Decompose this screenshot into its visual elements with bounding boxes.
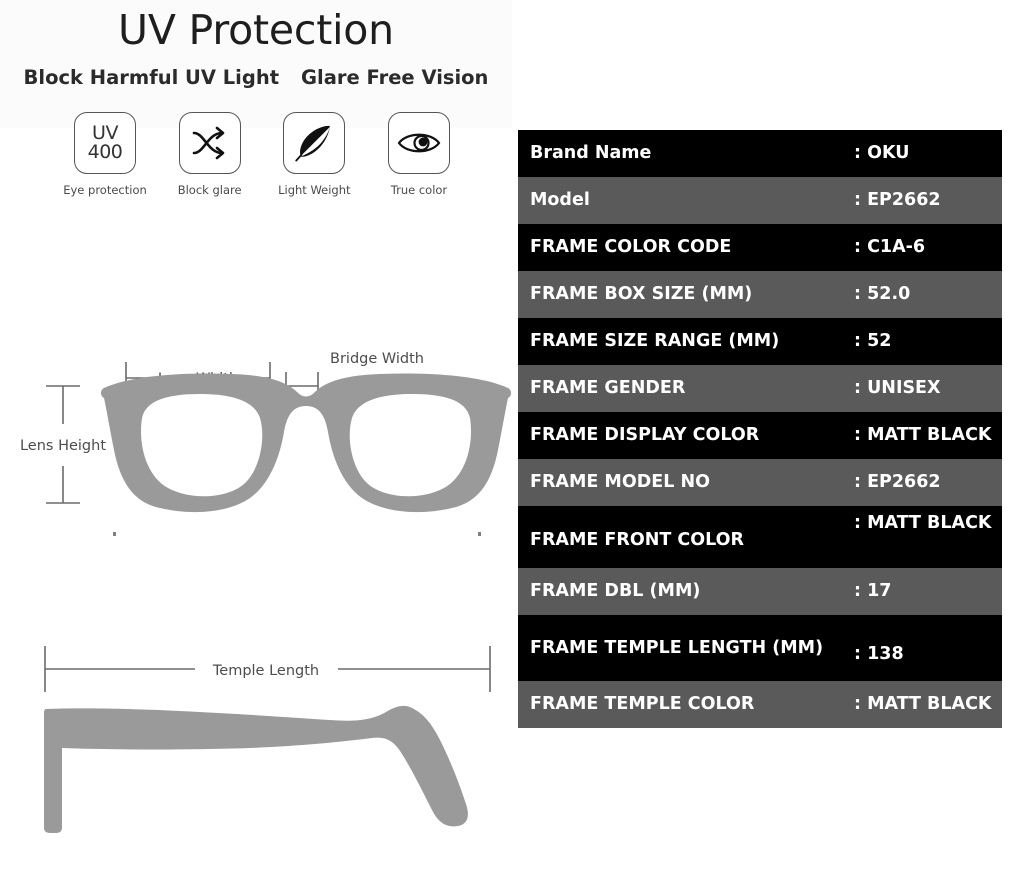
- table-row: Model : EP2662: [518, 177, 1002, 224]
- shuffle-arrows-icon: [190, 125, 230, 161]
- temple-arm-shape: [44, 706, 468, 833]
- spec-value: : EP2662: [854, 190, 1002, 211]
- feature-block-glare: Block glare: [167, 112, 253, 197]
- tick-right: [478, 532, 481, 536]
- spec-table: Brand Name : OKU Model : EP2662 FRAME CO…: [518, 130, 1002, 728]
- uv400-line-2: 400: [88, 143, 123, 162]
- lens-height-label: Lens Height: [20, 438, 106, 454]
- table-row: FRAME SIZE RANGE (MM) : 52: [518, 318, 1002, 365]
- feature-box: [283, 112, 345, 174]
- banner-title: UV Protection: [0, 6, 512, 54]
- spec-value: : OKU: [854, 143, 1002, 164]
- banner-subtitle-block-uv: Block Harmful UV Light: [24, 66, 280, 89]
- feature-eye-protection: UV 400 Eye protection: [62, 112, 148, 197]
- spec-key: FRAME MODEL NO: [530, 472, 854, 493]
- spec-key: FRAME BOX SIZE (MM): [530, 284, 854, 305]
- spec-key: FRAME FRONT COLOR: [530, 530, 854, 551]
- table-row: FRAME GENDER : UNISEX: [518, 365, 1002, 412]
- table-row: FRAME COLOR CODE : C1A-6: [518, 224, 1002, 271]
- spec-key: Model: [530, 190, 854, 211]
- table-row: FRAME TEMPLE LENGTH (MM) : 138: [518, 615, 1002, 681]
- eye-icon: [396, 128, 442, 158]
- spec-value: : MATT BLACK: [854, 694, 1002, 715]
- table-row: Brand Name : OKU: [518, 130, 1002, 177]
- spec-value: : C1A-6: [854, 237, 1002, 258]
- uv400-icon: UV 400: [88, 124, 123, 162]
- feature-box: [179, 112, 241, 174]
- table-row: FRAME DBL (MM) : 17: [518, 568, 1002, 615]
- banner-subtitle-row: Block Harmful UV Light Glare Free Vision: [0, 66, 512, 89]
- spec-key: FRAME TEMPLE LENGTH (MM): [530, 638, 854, 659]
- spec-key: FRAME DBL (MM): [530, 581, 854, 602]
- left-illustration-panel: UV Protection Block Harmful UV Light Gla…: [0, 0, 512, 886]
- table-row: FRAME DISPLAY COLOR : MATT BLACK: [518, 412, 1002, 459]
- temple-length-label: Temple Length: [212, 663, 319, 679]
- glasses-frame-shape: [101, 374, 511, 513]
- spec-value: : MATT BLACK: [854, 425, 1002, 446]
- spec-value: : 138: [854, 644, 1002, 665]
- spec-key: FRAME TEMPLE COLOR: [530, 694, 854, 715]
- spec-key: Brand Name: [530, 143, 854, 164]
- spec-value: : 52.0: [854, 284, 1002, 305]
- table-row: FRAME BOX SIZE (MM) : 52.0: [518, 271, 1002, 318]
- spec-value: : MATT BLACK: [854, 513, 1002, 534]
- spec-value: : EP2662: [854, 472, 1002, 493]
- feature-label: Block glare: [178, 183, 242, 197]
- glasses-front-diagram: Lens Width Bridge Width Lens Height: [0, 326, 512, 576]
- feature-box: [388, 112, 450, 174]
- spec-value: : UNISEX: [854, 378, 1002, 399]
- feature-icon-row: UV 400 Eye protection: [62, 112, 462, 197]
- spec-key: FRAME DISPLAY COLOR: [530, 425, 854, 446]
- bridge-width-label: Bridge Width: [330, 351, 424, 367]
- feature-label: True color: [391, 183, 447, 197]
- feature-true-color: True color: [376, 112, 462, 197]
- feature-box: UV 400: [74, 112, 136, 174]
- spec-value: : 52: [854, 331, 1002, 352]
- temple-length-diagram: Temple Length: [0, 628, 512, 853]
- table-row: FRAME MODEL NO : EP2662: [518, 459, 1002, 506]
- banner-subtitle-glare-free: Glare Free Vision: [301, 66, 488, 89]
- feather-icon: [293, 122, 335, 164]
- feature-light-weight: Light Weight: [271, 112, 357, 197]
- tick-left: [113, 532, 116, 536]
- spec-key: FRAME SIZE RANGE (MM): [530, 331, 854, 352]
- spec-value: : 17: [854, 581, 1002, 602]
- feature-label: Light Weight: [278, 183, 350, 197]
- spec-key: FRAME COLOR CODE: [530, 237, 854, 258]
- table-row: FRAME TEMPLE COLOR : MATT BLACK: [518, 681, 1002, 728]
- table-row: FRAME FRONT COLOR : MATT BLACK: [518, 506, 1002, 568]
- feature-label: Eye protection: [63, 183, 147, 197]
- spec-key: FRAME GENDER: [530, 378, 854, 399]
- uv-protection-banner: UV Protection Block Harmful UV Light Gla…: [0, 0, 512, 215]
